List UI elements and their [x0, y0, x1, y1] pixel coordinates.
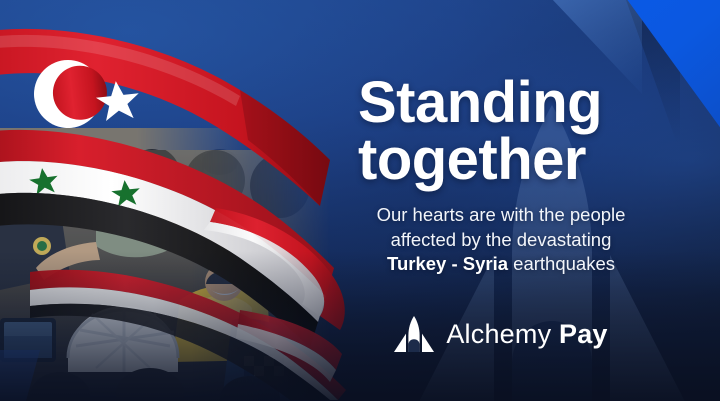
brand-name-light: Alchemy — [446, 319, 551, 349]
subtitle-line-3-rest: earthquakes — [508, 253, 615, 274]
subtitle-line-1: Our hearts are with the people — [336, 203, 666, 228]
brand-logo: Alchemy Pay — [336, 316, 666, 352]
subtitle-line-2: affected by the devastating — [336, 228, 666, 253]
alchemy-pay-rocket-icon — [394, 316, 434, 352]
subtitle-countries: Turkey - Syria — [387, 253, 508, 274]
headline-line-2: together — [358, 132, 668, 189]
page-title: Standing together — [358, 75, 668, 189]
banner-subtitle: Our hearts are with the people affected … — [336, 203, 666, 277]
brand-name-bold: Pay — [559, 319, 608, 349]
headline-line-1: Standing — [358, 70, 602, 135]
brand-name: Alchemy Pay — [446, 319, 607, 350]
alchemy-pay-solidarity-banner: Standing together Our hearts are with th… — [0, 0, 720, 401]
banner-text-content: Standing together Our hearts are with th… — [336, 0, 666, 401]
subtitle-line-3: Turkey - Syria earthquakes — [336, 252, 666, 277]
